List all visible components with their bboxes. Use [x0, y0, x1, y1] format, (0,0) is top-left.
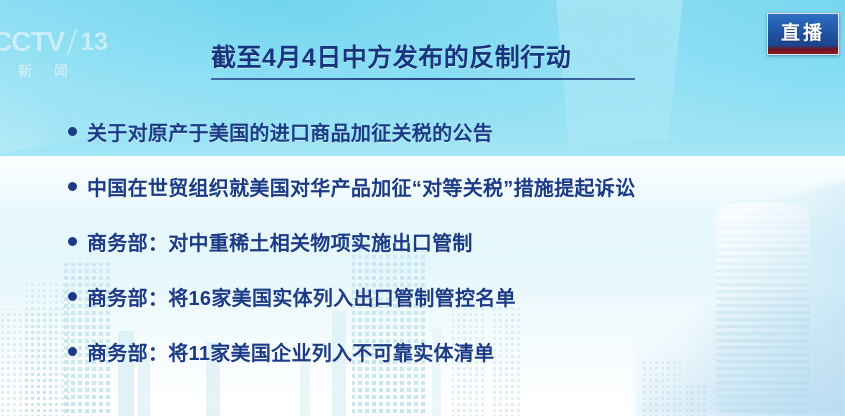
list-item: 关于对原产于美国的进口商品加征关税的公告: [68, 104, 828, 159]
list-item: 商务部：将11家美国企业列入不可靠实体清单: [68, 324, 828, 379]
bullet-dot-icon: [68, 237, 77, 246]
page-title: 截至4月4日中方发布的反制行动: [211, 43, 641, 74]
list-item-label: 商务部：对中重稀土相关物项实施出口管制: [87, 227, 473, 256]
live-badge-label: 直播: [781, 18, 825, 45]
bullet-dot-icon: [68, 182, 77, 191]
broadcast-screen: CCTV 13 新 闻 直播 截至4月4日中方发布的反制行动 关于对原产于美国的…: [0, 0, 845, 416]
cctv-channel-logo: CCTV 13 新 闻: [0, 28, 112, 92]
list-item-label: 中国在世贸组织就美国对华产品加征“对等关税”措施提起诉讼: [87, 172, 635, 201]
list-item: 中国在世贸组织就美国对华产品加征“对等关税”措施提起诉讼: [68, 159, 828, 214]
bullet-list: 关于对原产于美国的进口商品加征关税的公告 中国在世贸组织就美国对华产品加征“对等…: [68, 104, 828, 379]
bullet-dot-icon: [68, 127, 77, 136]
cctv-slash-divider: [67, 29, 77, 55]
cctv-channel-name: 新 闻: [0, 61, 112, 81]
live-badge: 直播: [767, 13, 839, 55]
bullet-dot-icon: [68, 347, 77, 356]
list-item-label: 商务部：将11家美国企业列入不可靠实体清单: [87, 337, 494, 366]
cctv-channel-number: 13: [80, 30, 108, 55]
bullet-dot-icon: [68, 292, 77, 301]
list-item: 商务部：将16家美国实体列入出口管制管控名单: [68, 269, 828, 324]
headline-underline: [211, 78, 635, 80]
cctv-network-text: CCTV: [0, 28, 64, 56]
headline-block: 截至4月4日中方发布的反制行动: [211, 43, 641, 80]
list-item-label: 商务部：将16家美国实体列入出口管制管控名单: [87, 282, 516, 311]
list-item-label: 关于对原产于美国的进口商品加征关税的公告: [87, 117, 493, 146]
list-item: 商务部：对中重稀土相关物项实施出口管制: [68, 214, 828, 269]
